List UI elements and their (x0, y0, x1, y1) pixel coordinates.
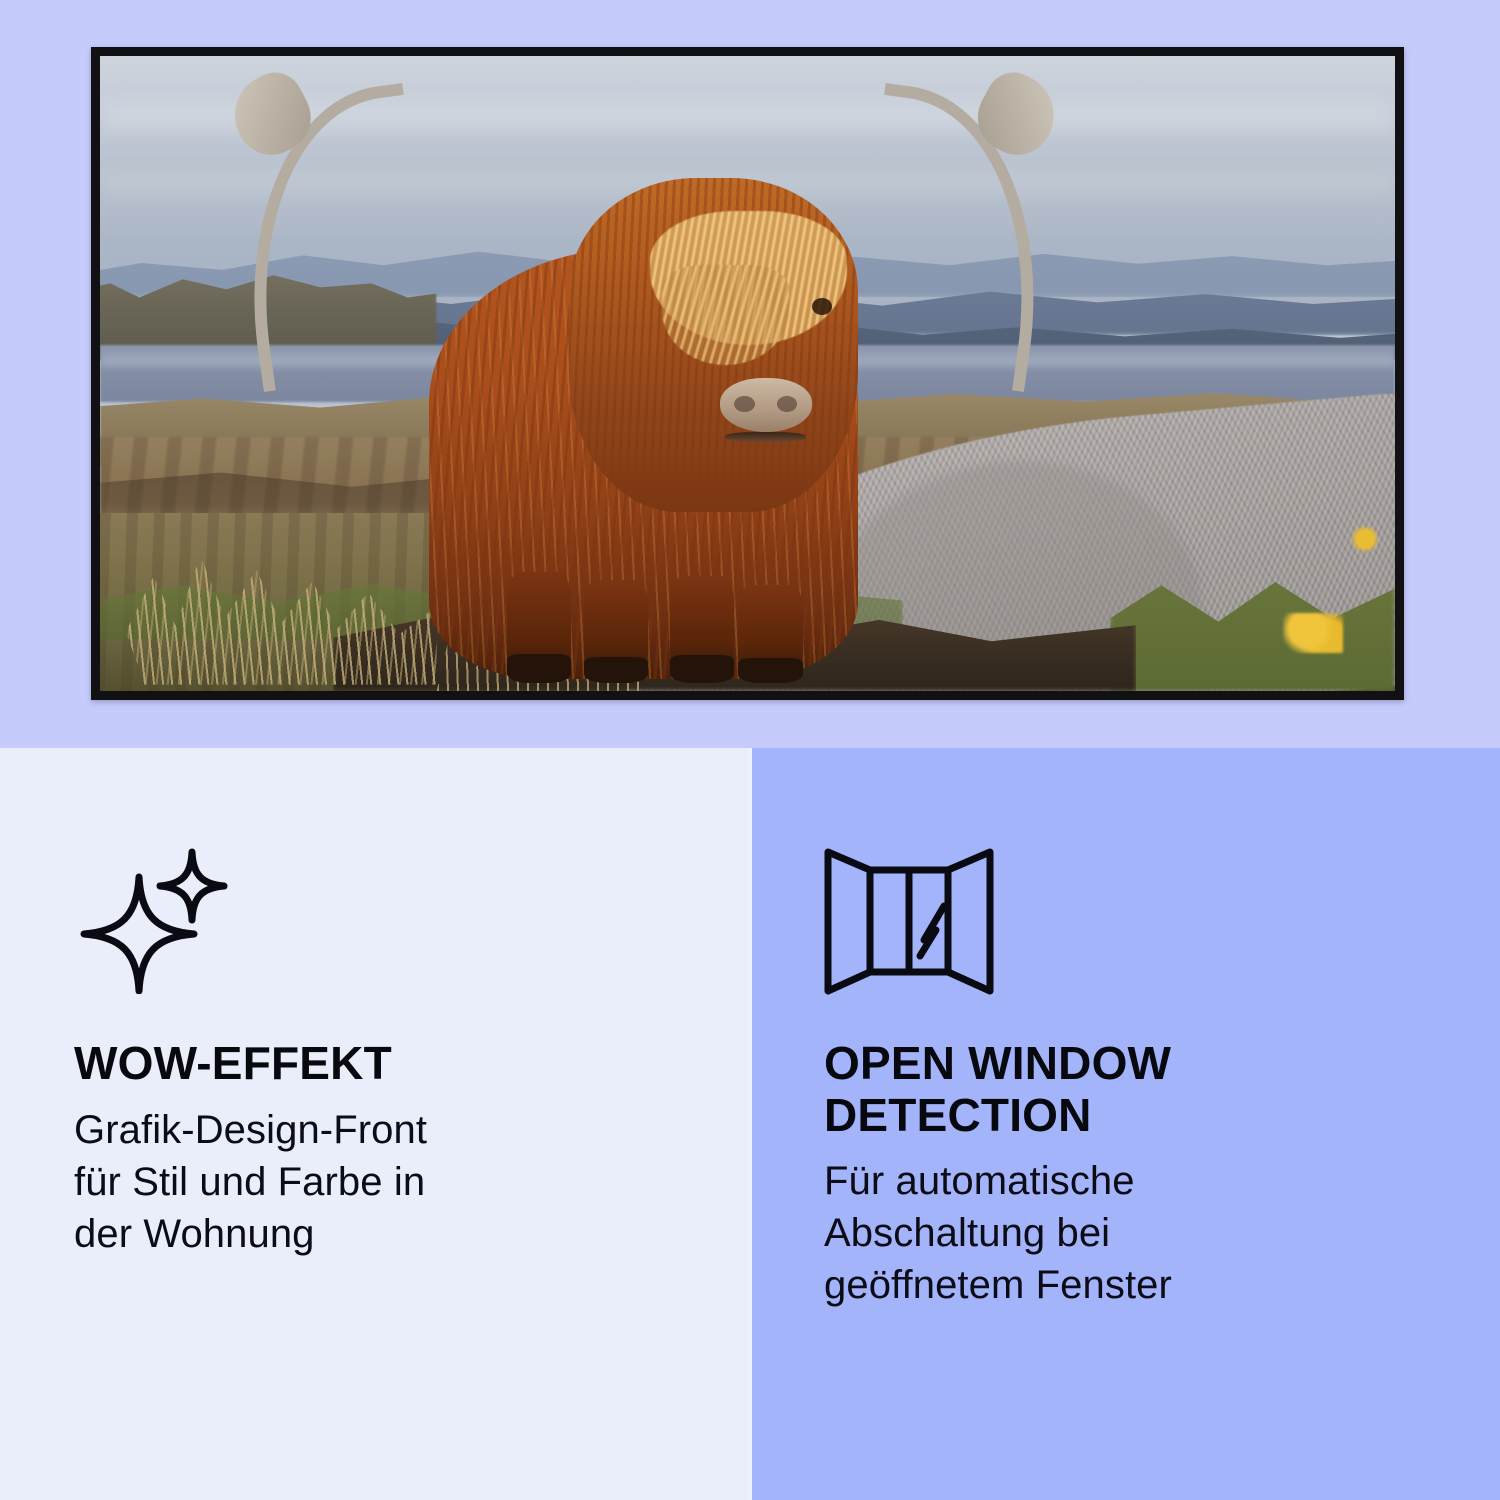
cow-leg (584, 580, 648, 683)
feature-description: Grafik-Design-Front für Stil und Farbe i… (74, 1104, 676, 1260)
cow-leg (738, 585, 802, 684)
gorse-flowers (1283, 613, 1343, 653)
product-feature-banner: WOW-EFFEKT Grafik-Design-Front für Stil … (0, 0, 1500, 1500)
cow-mouth (725, 432, 806, 442)
hero-section (0, 0, 1500, 748)
cow-hoof (507, 654, 571, 683)
cow-nostril (734, 396, 754, 412)
cow-fringe (662, 265, 789, 365)
cow-nostril (777, 396, 797, 412)
feature-title: WOW-EFFEKT (74, 1038, 676, 1090)
open-window-icon (824, 844, 1426, 1024)
cow-leg (670, 576, 734, 683)
cow-leg (507, 572, 571, 684)
sparkle-icon (74, 844, 676, 1024)
cow-muzzle (720, 378, 812, 431)
picture-frame-inner (100, 56, 1395, 691)
highland-cow-photo (100, 56, 1395, 691)
feature-description: Für automatische Abschaltung bei geöffne… (824, 1155, 1426, 1311)
feature-title: OPEN WINDOW DETECTION (824, 1038, 1426, 1141)
feature-card-wow-effekt: WOW-EFFEKT Grafik-Design-Front für Stil … (0, 748, 750, 1500)
cow-hoof (670, 655, 734, 683)
cow-hoof (738, 658, 802, 684)
picture-frame (91, 47, 1404, 700)
gorse-flowers (1348, 527, 1382, 551)
highland-cow (411, 94, 877, 691)
cow-hoof (584, 657, 648, 684)
cow-eye (812, 298, 832, 315)
panel-divider (748, 748, 752, 1500)
cow-head (569, 178, 858, 512)
feature-card-open-window-detection: OPEN WINDOW DETECTION Für automatische A… (750, 748, 1500, 1500)
